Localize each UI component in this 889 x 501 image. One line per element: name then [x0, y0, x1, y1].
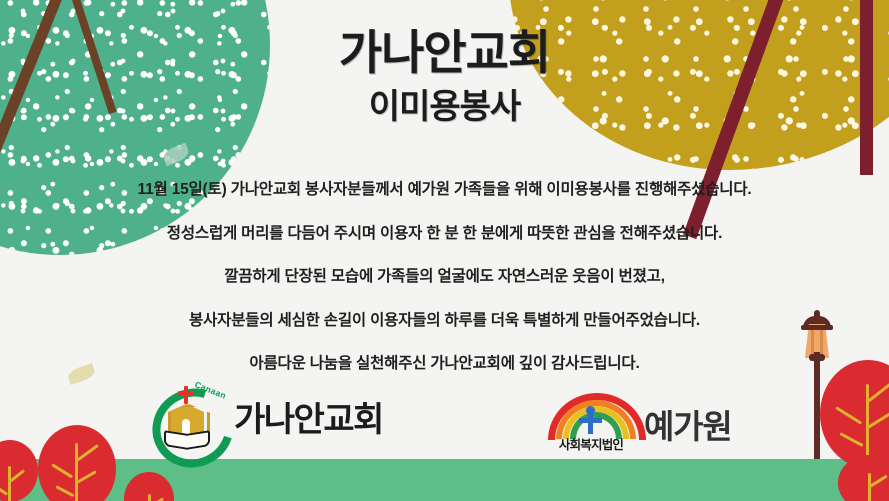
- yegawon-logo-caption: 사회복지법인: [547, 434, 635, 453]
- body-line-1: 11월 15일(토) 가나안교회 봉사자분들께서 예가원 가족들을 위해 이미용…: [0, 182, 889, 198]
- body-line-3: 깔끔하게 단장된 모습에 가족들의 얼굴에도 자연스러운 웃음이 번졌고,: [0, 269, 889, 285]
- body-line-5: 아름다운 나눔을 실천해주신 가나안교회에 깊이 감사드립니다.: [0, 356, 889, 372]
- poster-title-main: 가나안교회: [0, 28, 889, 77]
- cross-icon-bar: [178, 391, 194, 395]
- church-logo-name: 가나안교회: [234, 403, 383, 437]
- yegawon-logo-name: 예가원: [644, 410, 731, 449]
- poster-body-text: 11월 15일(토) 가나안교회 봉사자분들께서 예가원 가족들을 위해 이미용…: [0, 182, 889, 372]
- yegawon-logo-mark-icon: 사회복지법인: [548, 389, 632, 449]
- poster-title-sub: 이미용봉사: [0, 89, 889, 126]
- title-block: 가나안교회 이미용봉사: [0, 28, 889, 127]
- poster-content: 가나안교회 이미용봉사 11월 15일(토) 가나안교회 봉사자분들께서 예가원…: [0, 0, 889, 501]
- person-figure-body-icon: [588, 414, 593, 434]
- body-line-4: 봉사자분들의 세심한 손길이 이용자들의 하루를 더욱 특별하게 만들어주었습니…: [0, 313, 889, 329]
- church-logo-mark-icon: Canaan: [150, 383, 232, 457]
- yegawon-logo: 사회복지법인 예가원: [548, 389, 731, 449]
- church-logo: Canaan 가나안교회: [150, 383, 383, 457]
- logo-row: Canaan 가나안교회 사회복지법인: [0, 383, 889, 461]
- poster-canvas: 가나안교회 이미용봉사 11월 15일(토) 가나안교회 봉사자분들께서 예가원…: [0, 0, 889, 501]
- cross-icon: [184, 386, 188, 404]
- body-line-2: 정성스럽게 머리를 다듬어 주시며 이용자 한 분 한 분에게 따뜻한 관심을 …: [0, 226, 889, 242]
